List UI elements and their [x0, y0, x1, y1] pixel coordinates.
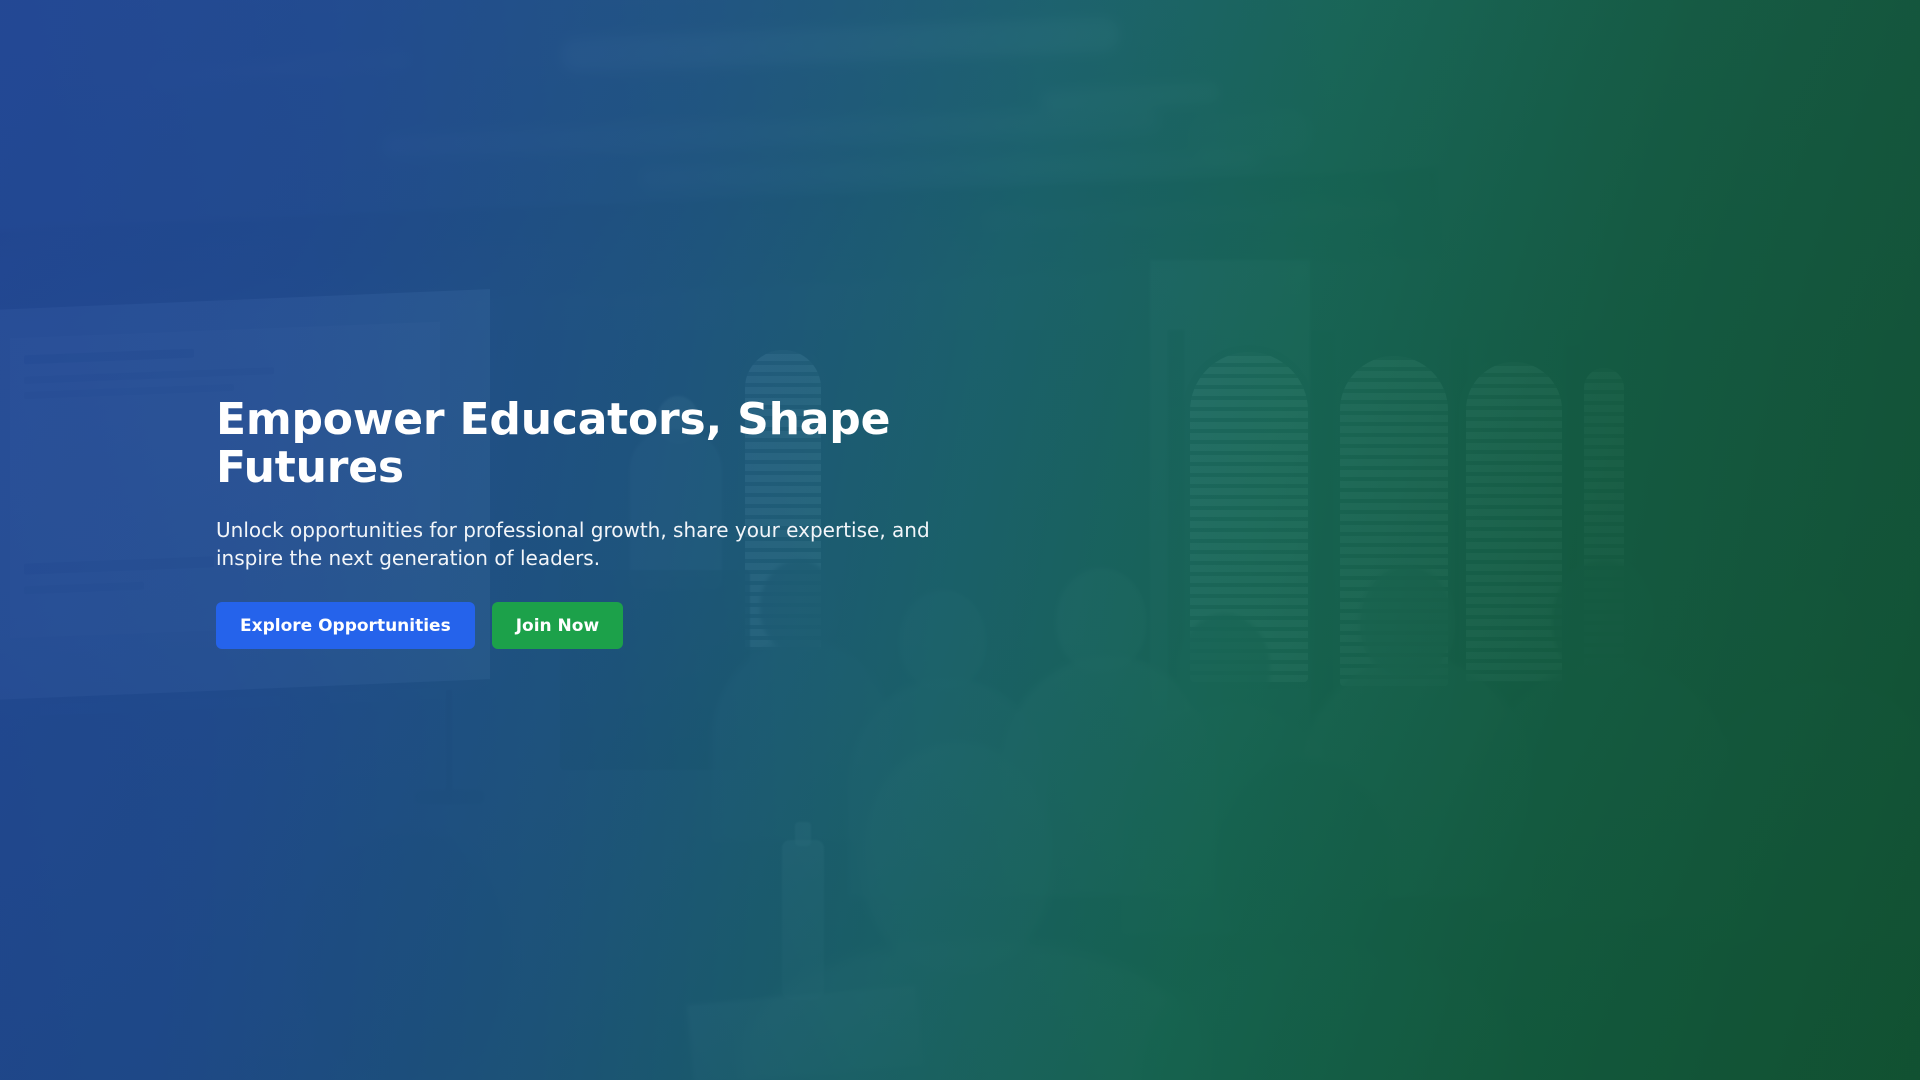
join-now-button[interactable]: Join Now	[492, 602, 623, 649]
hero-content: Empower Educators, Shape Futures Unlock …	[216, 396, 1016, 649]
hero-section: Empower Educators, Shape Futures Unlock …	[0, 0, 1920, 1080]
page-title: Empower Educators, Shape Futures	[216, 396, 976, 492]
cta-button-group: Explore Opportunities Join Now	[216, 602, 1016, 649]
explore-opportunities-button[interactable]: Explore Opportunities	[216, 602, 475, 649]
hero-subtitle: Unlock opportunities for professional gr…	[216, 516, 946, 572]
